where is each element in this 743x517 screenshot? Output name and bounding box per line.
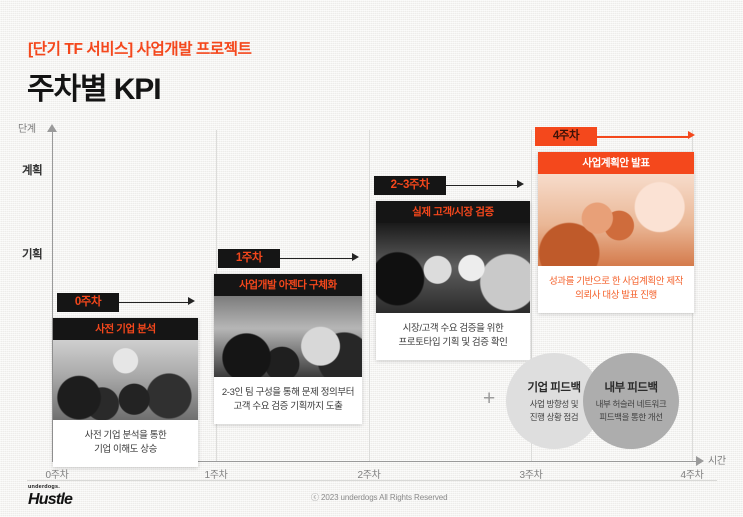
y-tick-plan: 계획 <box>22 162 42 178</box>
week-badge-3[interactable]: 4주차 <box>535 127 597 146</box>
slide-eyebrow: [단기 TF 서비스] 사업개발 프로젝트 <box>28 37 251 59</box>
card-caption-line2-week1: 고객 수요 검증 기획까지 도출 <box>220 400 356 414</box>
week-badge-2[interactable]: 2~3주차 <box>374 176 446 195</box>
feedback-internal-desc: 내부 허슬러 네트워크 피드백을 통한 개선 <box>596 398 667 423</box>
card-photo-week1 <box>214 296 362 377</box>
feedback-company-line1: 사업 방향성 및 <box>530 398 578 410</box>
x-axis-label: 시간 <box>708 452 726 467</box>
card-caption-line2-week4: 의뢰사 대상 발표 진행 <box>544 289 688 303</box>
x-tick-week2: 2주차 <box>357 466 380 481</box>
card-caption-week1: 2-3인 팀 구성을 통해 문제 정의부터 고객 수요 검증 기획까지 도출 <box>214 377 362 424</box>
feedback-company-desc: 사업 방향성 및 진행 상황 점검 <box>530 398 578 423</box>
copyright-text: ⓒ 2023 underdogs All Rights Reserved <box>311 492 447 503</box>
card-caption-week0: 사전 기업 분석을 통한 기업 이해도 상승 <box>53 420 198 467</box>
card-photo-week0 <box>53 340 198 420</box>
card-title-week1: 사업개발 아젠다 구체화 <box>214 274 362 296</box>
week-arrow-line-1 <box>280 258 353 259</box>
slide-canvas: [단기 TF 서비스] 사업개발 프로젝트 주차별 KPI 단계 시간 계획 기… <box>0 0 743 517</box>
card-caption-line1-week4: 성과를 기반으로 한 사업계획안 제작 <box>544 275 688 289</box>
week-badge-0[interactable]: 0주차 <box>57 293 119 312</box>
milestone-card-week4[interactable]: 사업계획안 발표 성과를 기반으로 한 사업계획안 제작 의뢰사 대상 발표 진… <box>538 152 694 313</box>
brand-logo-top: underdogs. <box>28 485 72 491</box>
feedback-company-title: 기업 피드백 <box>527 379 580 395</box>
milestone-card-week0[interactable]: 사전 기업 분석 사전 기업 분석을 통한 기업 이해도 상승 <box>53 318 198 467</box>
card-title-week4: 사업계획안 발표 <box>538 152 694 174</box>
card-title-week0: 사전 기업 분석 <box>53 318 198 340</box>
week-arrow-line-3 <box>597 136 689 138</box>
brand-logo: underdogs. Hustle <box>28 485 72 508</box>
week-arrow-line-2 <box>446 185 518 186</box>
y-tick-design: 기획 <box>22 246 42 262</box>
card-caption-line2-week0: 기업 이해도 상승 <box>59 443 192 457</box>
feedback-circle-internal[interactable]: 내부 피드백 내부 허슬러 네트워크 피드백을 통한 개선 <box>583 353 679 449</box>
y-axis-label: 단계 <box>18 120 36 135</box>
week-badge-1[interactable]: 1주차 <box>218 249 280 268</box>
x-tick-week0: 0주차 <box>45 466 68 481</box>
x-tick-week4: 4주차 <box>680 466 703 481</box>
footer-divider <box>27 480 717 481</box>
feedback-company-line2: 진행 상황 점검 <box>530 411 578 423</box>
week-arrow-head-icon-3 <box>688 131 695 139</box>
page-title: 주차별 KPI <box>27 64 160 108</box>
x-tick-week1: 1주차 <box>204 466 227 481</box>
card-caption-line2-week23: 프로토타입 기획 및 검증 확인 <box>382 336 524 350</box>
card-caption-line1-week23: 시장/고객 수요 검증을 위한 <box>382 322 524 336</box>
milestone-card-week1[interactable]: 사업개발 아젠다 구체화 2-3인 팀 구성을 통해 문제 정의부터 고객 수요… <box>214 274 362 424</box>
feedback-internal-line1: 내부 허슬러 네트워크 <box>596 398 667 410</box>
card-caption-line1-week1: 2-3인 팀 구성을 통해 문제 정의부터 <box>220 386 356 400</box>
card-title-week23: 실제 고객/시장 검증 <box>376 201 530 223</box>
card-photo-week4 <box>538 174 694 266</box>
card-caption-line1-week0: 사전 기업 분석을 통한 <box>59 429 192 443</box>
plus-icon: + <box>483 388 495 409</box>
milestone-card-week23[interactable]: 실제 고객/시장 검증 시장/고객 수요 검증을 위한 프로토타입 기획 및 검… <box>376 201 530 360</box>
card-photo-week23 <box>376 223 530 313</box>
y-axis-arrow-icon <box>47 124 57 132</box>
feedback-internal-title: 내부 피드백 <box>604 379 657 395</box>
x-tick-week3: 3주차 <box>519 466 542 481</box>
gridline-week2 <box>369 130 370 461</box>
feedback-internal-line2: 피드백을 통한 개선 <box>596 411 667 423</box>
week-arrow-head-icon-2 <box>517 180 524 188</box>
card-caption-week4: 성과를 기반으로 한 사업계획안 제작 의뢰사 대상 발표 진행 <box>538 266 694 313</box>
brand-logo-main: Hustle <box>28 492 72 508</box>
card-caption-week23: 시장/고객 수요 검증을 위한 프로토타입 기획 및 검증 확인 <box>376 313 530 360</box>
week-arrow-head-icon-1 <box>352 253 359 261</box>
week-arrow-head-icon-0 <box>188 297 195 305</box>
x-axis-arrow-icon <box>696 456 704 466</box>
week-arrow-line-0 <box>119 302 189 303</box>
